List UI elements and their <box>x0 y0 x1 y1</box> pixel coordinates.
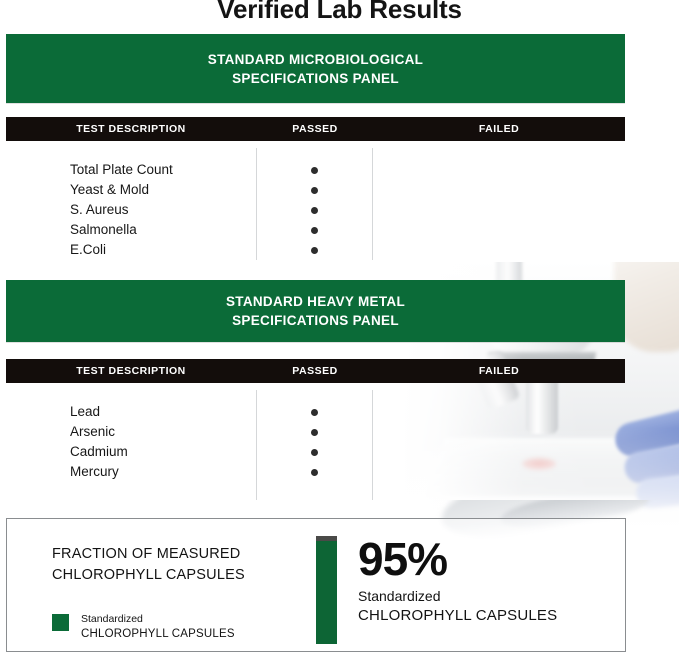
table-row: Arsenic <box>6 422 625 442</box>
legend-swatch-icon <box>52 614 69 631</box>
panel-banner-line-1: STANDARD MICROBIOLOGICAL <box>208 50 423 69</box>
stat-heading-line-1: FRACTION OF MEASURED <box>52 544 245 565</box>
stat-sub-line-1: Standardized <box>358 587 557 606</box>
column-header-passed: PASSED <box>256 359 374 383</box>
passed-dot-icon <box>311 247 318 254</box>
panel-banner-microbiological: STANDARD MICROBIOLOGICAL SPECIFICATIONS … <box>6 34 625 103</box>
table-row: E.Coli <box>6 240 625 260</box>
passed-dot-icon <box>311 469 318 476</box>
column-header-microbiological: TEST DESCRIPTION PASSED FAILED <box>6 117 625 141</box>
test-description-value: Yeast & Mold <box>70 180 149 200</box>
column-header-test-description: TEST DESCRIPTION <box>6 359 256 383</box>
table-body-microbiological: Total Plate Count Yeast & Mold S. Aureus… <box>6 148 625 260</box>
passed-dot-icon <box>311 207 318 214</box>
table-row: Yeast & Mold <box>6 180 625 200</box>
panel-banner-heavy-metal: STANDARD HEAVY METAL SPECIFICATIONS PANE… <box>6 280 625 342</box>
test-description-value: Lead <box>70 402 100 422</box>
stat-heading-line-2: CHLOROPHYLL CAPSULES <box>52 565 245 586</box>
table-row: S. Aureus <box>6 200 625 220</box>
test-description-value: Salmonella <box>70 220 137 240</box>
column-header-heavy-metal: TEST DESCRIPTION PASSED FAILED <box>6 359 625 383</box>
column-header-passed: PASSED <box>256 117 374 141</box>
legend-label: Standardized CHLOROPHYLL CAPSULES <box>81 612 235 642</box>
passed-dot-icon <box>311 227 318 234</box>
passed-dot-icon <box>311 429 318 436</box>
column-header-test-description: TEST DESCRIPTION <box>6 117 256 141</box>
passed-dot-icon <box>311 167 318 174</box>
column-header-failed: FAILED <box>374 359 624 383</box>
test-description-value: Arsenic <box>70 422 115 442</box>
test-description-value: Total Plate Count <box>70 160 173 180</box>
stat-sub-line-2: CHLOROPHYLL CAPSULES <box>358 606 557 625</box>
test-description-value: E.Coli <box>70 240 106 260</box>
passed-dot-icon <box>311 449 318 456</box>
legend-label-line-2: CHLOROPHYLL CAPSULES <box>81 627 235 642</box>
stat-sub-label: Standardized CHLOROPHYLL CAPSULES <box>358 587 557 625</box>
stat-figure: 95% Standardized CHLOROPHYLL CAPSULES <box>358 535 557 625</box>
table-row: Salmonella <box>6 220 625 240</box>
passed-dot-icon <box>311 409 318 416</box>
table-body-heavy-metal: Lead Arsenic Cadmium Mercury <box>6 390 625 500</box>
panel-banner-line-1: STANDARD HEAVY METAL <box>226 292 405 311</box>
page-title: Verified Lab Results <box>0 0 679 25</box>
legend-label-line-1: Standardized <box>81 612 235 627</box>
panel-banner-line-2: SPECIFICATIONS PANEL <box>232 69 399 88</box>
chlorophyll-stat-card: FRACTION OF MEASURED CHLOROPHYLL CAPSULE… <box>6 518 626 652</box>
column-header-failed: FAILED <box>374 117 624 141</box>
test-description-value: S. Aureus <box>70 200 129 220</box>
stat-percent-value: 95% <box>358 535 557 583</box>
chlorophyll-bar-chart <box>316 536 337 644</box>
test-description-value: Mercury <box>70 462 119 482</box>
test-description-value: Cadmium <box>70 442 128 462</box>
chart-legend: Standardized CHLOROPHYLL CAPSULES <box>52 612 235 642</box>
passed-dot-icon <box>311 187 318 194</box>
stat-card-heading: FRACTION OF MEASURED CHLOROPHYLL CAPSULE… <box>52 544 245 586</box>
bar-value-segment <box>316 541 337 644</box>
table-row: Cadmium <box>6 442 625 462</box>
table-row: Total Plate Count <box>6 160 625 180</box>
panel-banner-line-2: SPECIFICATIONS PANEL <box>232 311 399 330</box>
lab-results-infographic: Verified Lab Results STANDARD MICROBIOLO… <box>0 0 679 654</box>
table-row: Mercury <box>6 462 625 482</box>
table-row: Lead <box>6 402 625 422</box>
